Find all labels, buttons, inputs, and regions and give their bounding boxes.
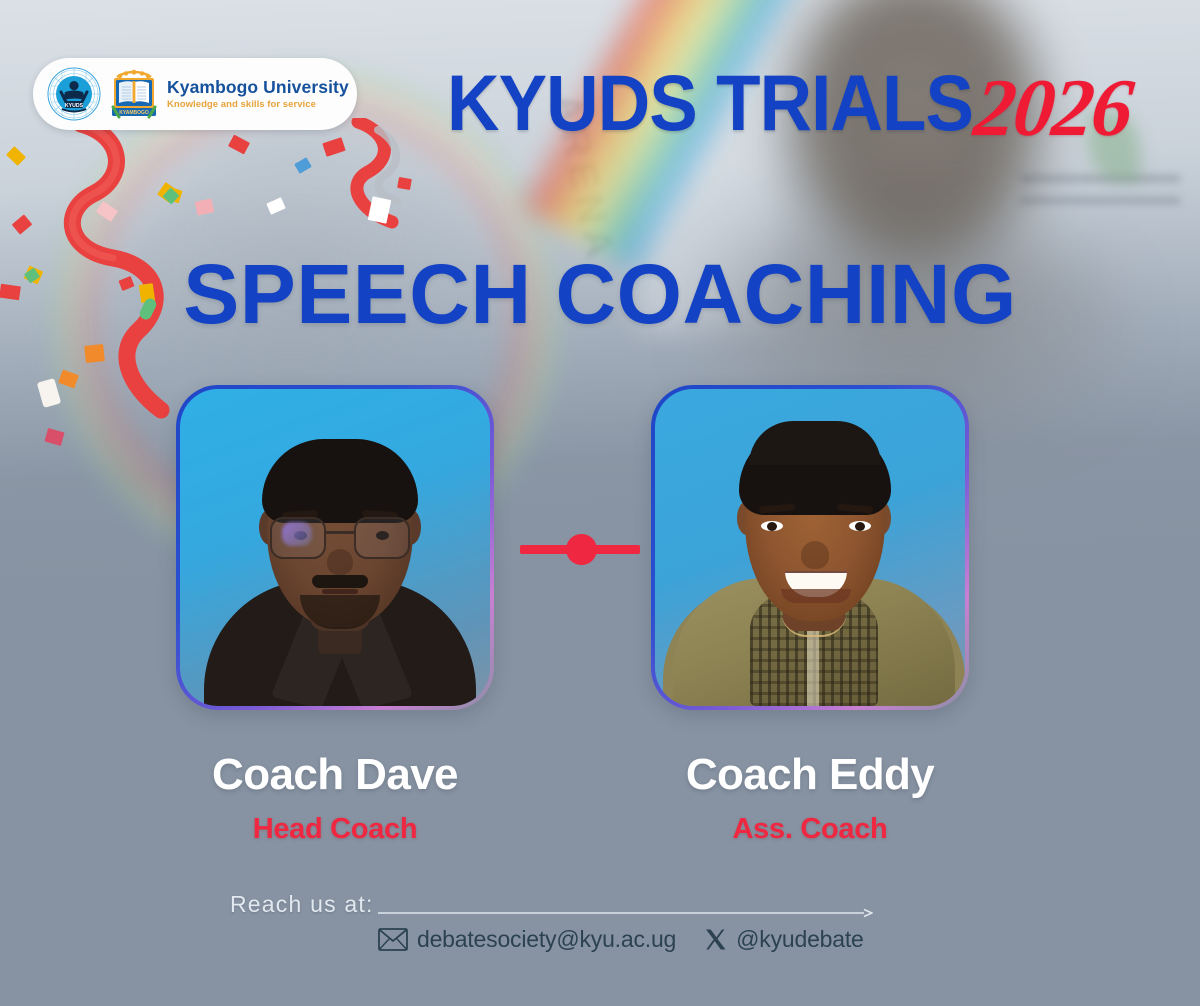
arrow-line-icon: [378, 908, 873, 918]
svg-text:KYAMBOGO: KYAMBOGO: [119, 110, 149, 116]
coach-name: Coach Eddy: [640, 750, 980, 800]
svg-text:KYUDS: KYUDS: [65, 103, 84, 109]
kyambogo-university-crest-icon: KYAMBOGO: [111, 69, 157, 119]
event-year: 2026: [970, 61, 1136, 155]
coach-role: Head Coach: [165, 813, 505, 846]
contact-social[interactable]: @kyudebate: [704, 926, 864, 953]
coach-card-dave: Coach Dave Head Coach: [165, 385, 505, 846]
page-title: SPEECH COACHING: [0, 246, 1200, 343]
coach-connector-icon: [520, 538, 640, 560]
contact-email[interactable]: debatesociety@kyu.ac.ug: [378, 926, 676, 953]
contact-social-text: @kyudebate: [736, 926, 864, 953]
connector-dot: [566, 534, 597, 565]
coach-photo-frame: [176, 385, 494, 710]
contact-list: debatesociety@kyu.ac.ug @kyudebate: [378, 920, 898, 958]
university-name: Kyambogo University: [167, 78, 349, 96]
contact-email-text: debatesociety@kyu.ac.ug: [417, 926, 676, 953]
coach-card-eddy: Coach Eddy Ass. Coach: [640, 385, 980, 846]
event-title: KYUDS TRIALS: [447, 57, 973, 149]
x-twitter-icon: [704, 928, 727, 951]
coach-photo-frame: [651, 385, 969, 710]
envelope-icon: [378, 928, 408, 951]
reach-us-label: Reach us at:: [230, 891, 374, 918]
kyuds-circular-emblem-icon: KYUDS: [47, 67, 101, 121]
university-tagline: Knowledge and skills for service: [167, 100, 349, 110]
brand-logo-bar: KYUDS KYAMBOGO: [33, 58, 357, 130]
coach-role: Ass. Coach: [640, 813, 980, 846]
background-document-text: [1020, 175, 1180, 221]
coach-photo-dave: [180, 389, 490, 706]
coach-name: Coach Dave: [165, 750, 505, 800]
poster-canvas: ARENA: [0, 0, 1200, 1006]
contact-footer: Reach us at: debatesociety@kyu.ac.ug @ky…: [0, 884, 1200, 964]
university-identity: Kyambogo University Knowledge and skills…: [167, 78, 349, 109]
coach-photo-eddy: [655, 389, 965, 706]
